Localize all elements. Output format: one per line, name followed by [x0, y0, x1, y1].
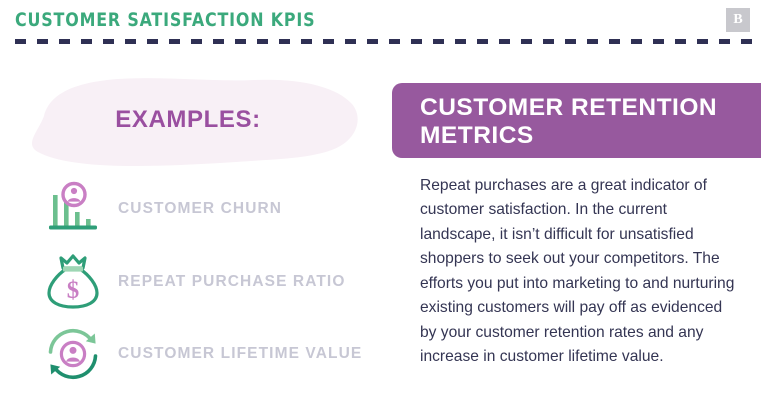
retention-metrics-panel: CUSTOMER RETENTION METRICS Repeat purcha… [392, 62, 761, 411]
examples-panel: EXAMPLES: CUSTOMER CHURN [0, 62, 392, 411]
list-item-label: REPEAT PURCHASE RATIO [118, 273, 345, 291]
bar-chart-down-user-icon [44, 180, 102, 238]
header-dashed-divider [15, 39, 761, 44]
brand-badge: B [726, 8, 750, 32]
slide-header: CUSTOMER SATISFACTION KPIs B [0, 0, 761, 52]
retention-heading-banner: CUSTOMER RETENTION METRICS [392, 83, 761, 158]
recycle-arrows-user-icon [44, 325, 102, 383]
retention-heading-text: CUSTOMER RETENTION METRICS [420, 94, 761, 150]
list-item: CUSTOMER CHURN [44, 180, 282, 238]
list-item: CUSTOMER LIFETIME VALUE [44, 325, 362, 383]
money-bag-dollar-icon: $ [44, 253, 102, 311]
list-item-label: CUSTOMER CHURN [118, 200, 282, 218]
list-item: $ REPEAT PURCHASE RATIO [44, 253, 345, 311]
retention-body-text: Repeat purchases are a great indicator o… [420, 174, 738, 370]
svg-text:$: $ [67, 277, 80, 304]
examples-heading: EXAMPLES: [16, 106, 360, 134]
list-item-label: CUSTOMER LIFETIME VALUE [118, 345, 362, 363]
page-title: CUSTOMER SATISFACTION KPIs [15, 9, 315, 31]
